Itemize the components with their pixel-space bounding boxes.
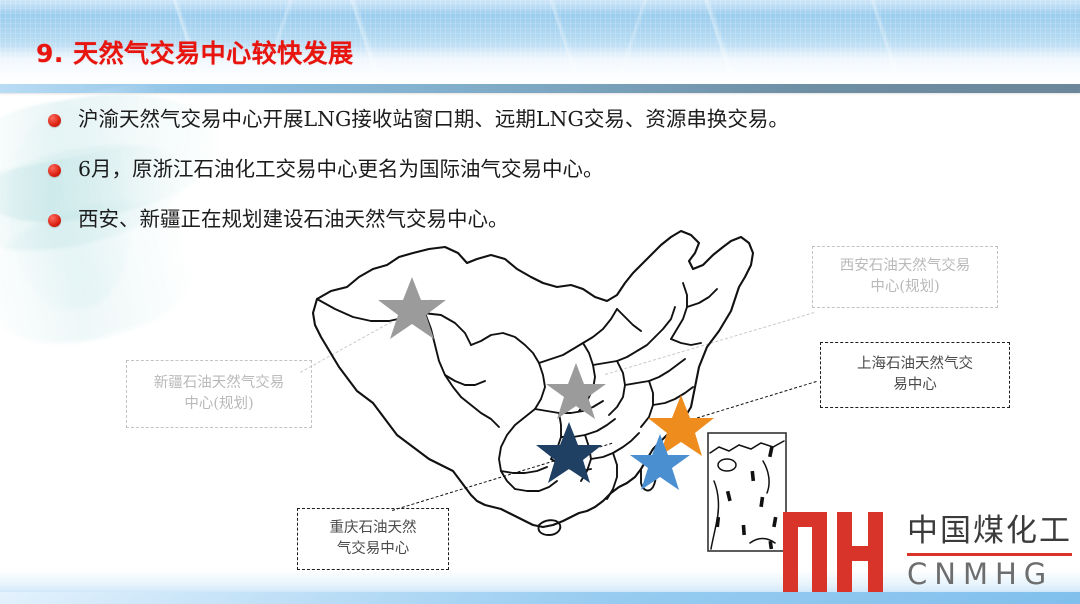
callout-text: 新疆石油天然气交易 中心(规划)	[154, 373, 285, 415]
list-item: 沪渝天然气交易中心开展LNG接收站窗口期、远期LNG交易、资源串换交易。	[48, 104, 1048, 136]
callout-text: 上海石油天然气交 易中心	[857, 354, 973, 396]
south-china-sea-inset	[708, 433, 786, 551]
logo-wordmark: 中国煤化工 CNMHG	[907, 514, 1072, 591]
callout-shanghai[interactable]: 上海石油天然气交 易中心	[820, 342, 1010, 408]
page-title: 9. 天然气交易中心较快发展	[36, 34, 354, 70]
logo-company-en: CNMHG	[907, 559, 1072, 591]
bullet-text: 沪渝天然气交易中心开展LNG接收站窗口期、远期LNG交易、资源串换交易。	[78, 104, 789, 136]
company-logo: 中国煤化工 CNMHG	[781, 506, 1072, 598]
bullet-text: 6月，原浙江石油化工交易中心更名为国际油气交易中心。	[78, 154, 604, 186]
star-chongqing	[536, 422, 602, 483]
bullet-dot-icon	[48, 114, 61, 127]
bullet-dot-icon	[48, 164, 61, 177]
title-divider	[0, 84, 1080, 93]
mh-monogram-icon	[781, 506, 899, 598]
logo-company-cn: 中国煤化工	[907, 514, 1072, 548]
logo-rule	[907, 553, 1072, 556]
callout-chongqing[interactable]: 重庆石油天然 气交易中心	[297, 508, 449, 570]
star-xinjiang	[378, 277, 446, 339]
nine-dash-marks	[715, 447, 777, 550]
callout-xian[interactable]: 西安石油天然气交易 中心(规划)	[812, 246, 998, 308]
callout-text: 重庆石油天然 气交易中心	[330, 518, 417, 560]
star-zhejiang	[630, 434, 690, 490]
slide-root: 9. 天然气交易中心较快发展 沪渝天然气交易中心开展LNG接收站窗口期、远期LN…	[0, 0, 1080, 604]
list-item: 6月，原浙江石油化工交易中心更名为国际油气交易中心。	[48, 154, 1048, 186]
bullet-dot-icon	[48, 214, 61, 227]
star-xian	[546, 363, 606, 419]
callout-text: 西安石油天然气交易 中心(规划)	[840, 256, 971, 298]
callout-xinjiang[interactable]: 新疆石油天然气交易 中心(规划)	[126, 360, 312, 428]
